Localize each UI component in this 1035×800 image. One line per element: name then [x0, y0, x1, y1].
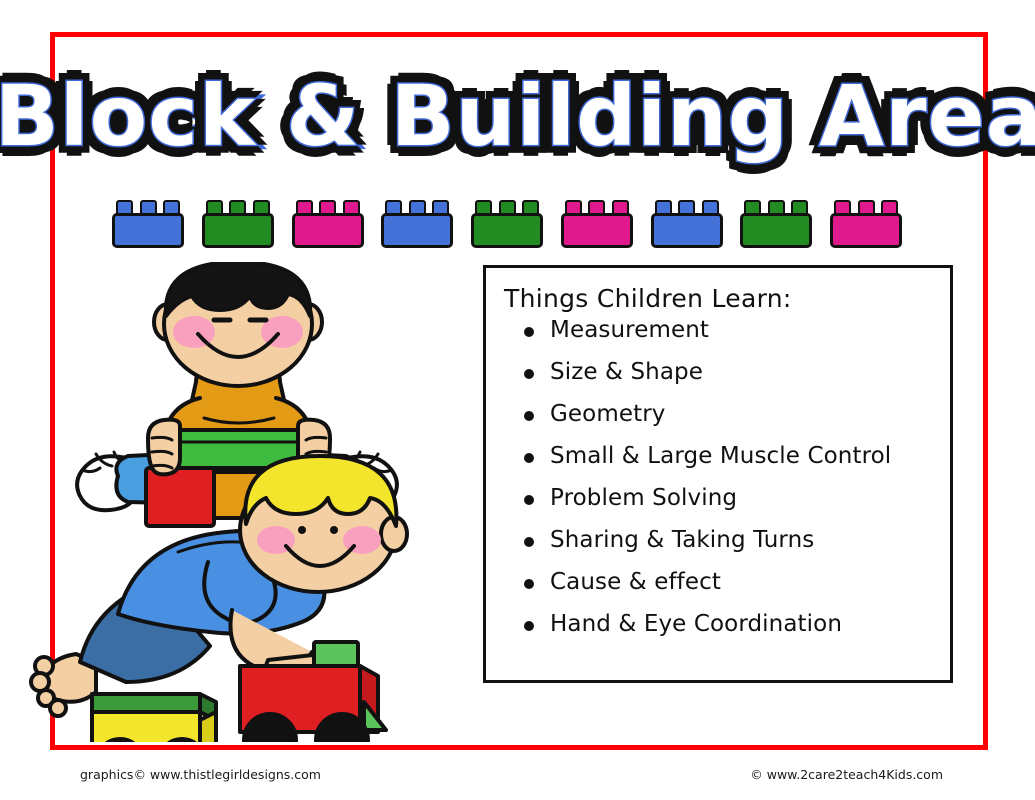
lego-brick-body	[202, 213, 274, 248]
lego-brick-strip	[112, 196, 902, 248]
things-children-learn-box: Things Children Learn: MeasurementSize &…	[483, 265, 953, 683]
learn-box-heading: Things Children Learn:	[504, 284, 950, 313]
lego-brick	[381, 200, 453, 248]
learn-list-item-label: Hand & Eye Coordination	[550, 611, 842, 637]
bullet-icon	[524, 537, 534, 547]
bullet-icon	[524, 579, 534, 589]
lego-brick-body	[471, 213, 543, 248]
learn-list-item: Small & Large Muscle Control	[524, 445, 950, 468]
lego-brick	[202, 200, 274, 248]
learn-list-item-label: Small & Large Muscle Control	[550, 443, 891, 469]
learn-list-item-label: Measurement	[550, 317, 709, 343]
learn-list-item: Problem Solving	[524, 487, 950, 510]
lego-brick	[561, 200, 633, 248]
lego-brick-body	[292, 213, 364, 248]
bullet-icon	[524, 411, 534, 421]
lego-brick-body	[740, 213, 812, 248]
lego-brick	[112, 200, 184, 248]
lego-brick-body	[561, 213, 633, 248]
learn-list-item-label: Sharing & Taking Turns	[550, 527, 814, 553]
bullet-icon	[524, 495, 534, 505]
poster-canvas: Block & Building Area Block & Building A…	[0, 0, 1035, 800]
lego-brick	[740, 200, 812, 248]
lego-brick-body	[381, 213, 453, 248]
learn-list-item-label: Size & Shape	[550, 359, 703, 385]
lego-brick-body	[112, 213, 184, 248]
children-illustration	[18, 262, 488, 742]
lego-brick	[471, 200, 543, 248]
lego-brick	[830, 200, 902, 248]
learn-items-list: MeasurementSize & ShapeGeometrySmall & L…	[504, 319, 950, 636]
learn-list-item: Size & Shape	[524, 361, 950, 384]
learn-list-item-label: Cause & effect	[550, 569, 721, 595]
learn-list-item: Geometry	[524, 403, 950, 426]
bullet-icon	[524, 369, 534, 379]
bullet-icon	[524, 621, 534, 631]
bullet-icon	[524, 453, 534, 463]
lego-brick	[651, 200, 723, 248]
learn-list-item-label: Geometry	[550, 401, 666, 427]
bullet-icon	[524, 327, 534, 337]
lego-brick	[292, 200, 364, 248]
learn-list-item-label: Problem Solving	[550, 485, 737, 511]
learn-list-item: Sharing & Taking Turns	[524, 529, 950, 552]
learn-list-item: Hand & Eye Coordination	[524, 613, 950, 636]
credit-publisher: © www.2care2teach4Kids.com	[750, 767, 943, 782]
learn-list-item: Cause & effect	[524, 571, 950, 594]
learn-list-item: Measurement	[524, 319, 950, 342]
lego-brick-body	[830, 213, 902, 248]
credit-graphics: graphics© www.thistlegirldesigns.com	[80, 767, 321, 782]
lego-brick-body	[651, 213, 723, 248]
